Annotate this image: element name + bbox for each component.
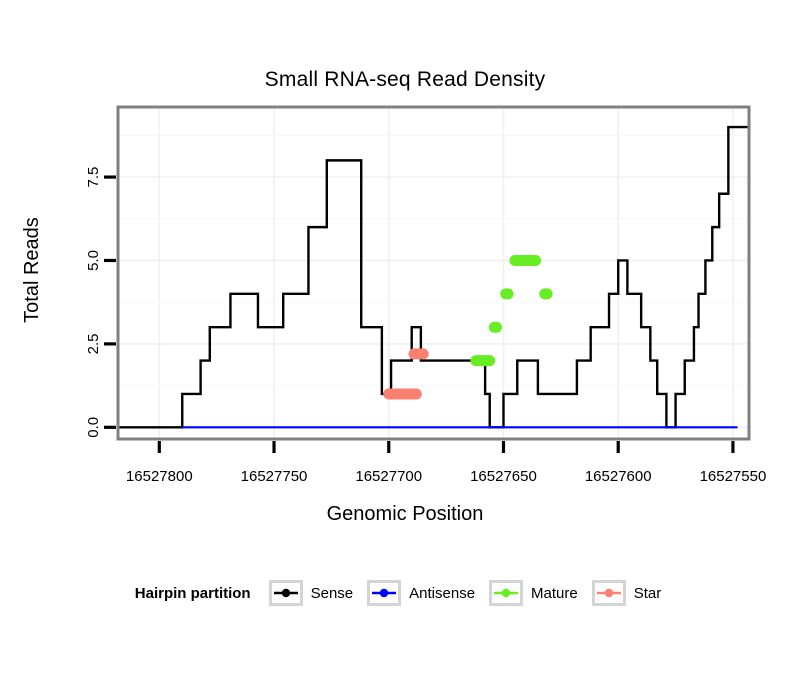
x-tick-label: 16527650 <box>470 468 537 485</box>
legend-label: Sense <box>311 585 354 602</box>
legend-title: Hairpin partition <box>135 585 251 602</box>
y-tick-label: 7.5 <box>85 167 102 188</box>
y-tick-label: 0.0 <box>85 417 102 438</box>
legend-entry-sense[interactable]: Sense <box>269 580 354 606</box>
legend-key-icon <box>592 580 626 606</box>
x-tick-label: 16527750 <box>241 468 308 485</box>
chart-figure: Small RNA-seq Read Density 1652780016527… <box>0 0 810 690</box>
legend-key-icon <box>489 580 523 606</box>
x-tick-label: 16527550 <box>700 468 767 485</box>
legend-entries: SenseAntisenseMatureStar <box>269 580 676 606</box>
x-tick-label: 16527800 <box>126 468 193 485</box>
x-tick-label: 16527600 <box>585 468 652 485</box>
y-tick-label: 5.0 <box>85 250 102 271</box>
legend-entry-star[interactable]: Star <box>592 580 662 606</box>
y-axis-title: Total Reads <box>21 217 43 323</box>
legend-label: Antisense <box>409 585 475 602</box>
legend-label: Mature <box>531 585 578 602</box>
y-tick-label: 2.5 <box>85 333 102 354</box>
legend-label: Star <box>634 585 662 602</box>
legend-entry-antisense[interactable]: Antisense <box>367 580 475 606</box>
x-tick-label: 16527700 <box>355 468 422 485</box>
legend-entry-mature[interactable]: Mature <box>489 580 578 606</box>
legend-key-icon <box>269 580 303 606</box>
legend: Hairpin partition SenseAntisenseMatureSt… <box>0 580 810 606</box>
x-axis-title: Genomic Position <box>327 503 484 525</box>
plot-panel <box>118 107 749 439</box>
legend-key-icon <box>367 580 401 606</box>
